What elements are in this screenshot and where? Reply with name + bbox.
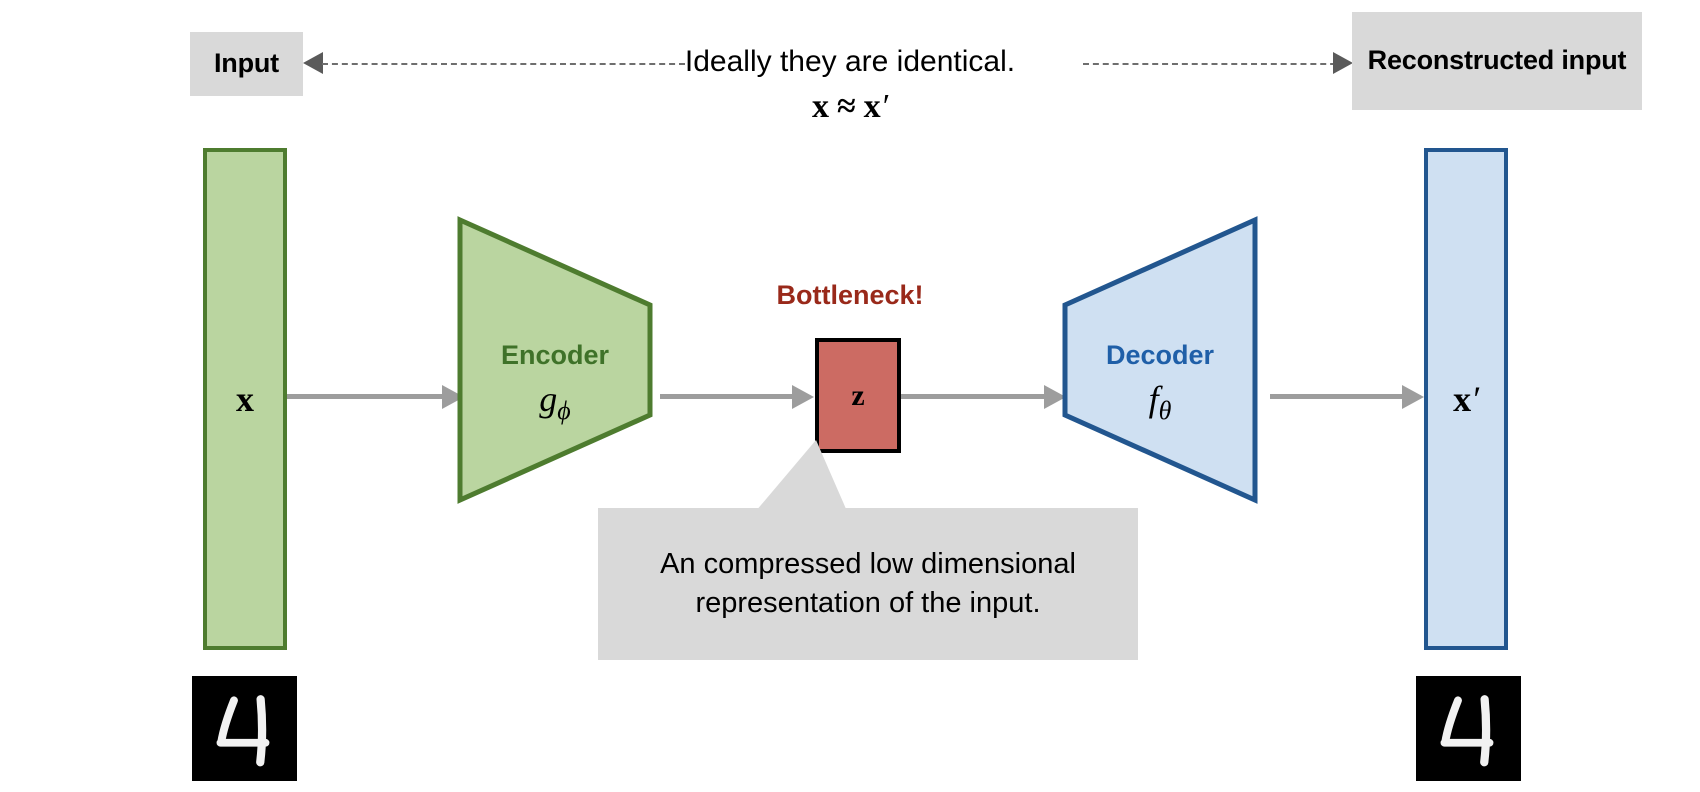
- bottleneck-box: z: [815, 338, 901, 453]
- arrow-decoder-to-output-head: [1402, 385, 1424, 409]
- bottleneck-heading: Bottleneck!: [720, 280, 980, 311]
- diagram-canvas: Input Ideally they are identical. x≈x′ R…: [0, 0, 1700, 792]
- input-vector-bar: x: [203, 148, 287, 650]
- approx-equation: x≈x′: [620, 88, 1080, 126]
- arrow-bottleneck-to-decoder-line: [901, 394, 1044, 399]
- dashed-arrow-head-left: [303, 52, 323, 74]
- bottleneck-callout-text: An compressed low dimensional representa…: [608, 545, 1128, 623]
- callout-line-2: representation of the input.: [608, 584, 1128, 623]
- output-vector-bar: x′: [1424, 148, 1508, 650]
- equation-rhs: x: [864, 88, 881, 125]
- input-label-box: Input: [190, 32, 303, 96]
- input-vector-symbol: x: [236, 378, 254, 420]
- output-vector-symbol-prime: ′: [1471, 378, 1479, 420]
- reconstructed-input-label-box: Reconstructed input: [1352, 12, 1642, 110]
- dashed-line-right: [1083, 63, 1346, 65]
- callout-line-1: An compressed low dimensional: [608, 545, 1128, 584]
- equation-operator: ≈: [829, 88, 864, 125]
- bottleneck-symbol: z: [851, 379, 864, 413]
- output-vector-symbol: x: [1453, 378, 1471, 420]
- arrow-input-to-encoder-line: [287, 394, 442, 399]
- equation-rhs-prime: ′: [881, 88, 888, 125]
- arrow-decoder-to-output-line: [1270, 394, 1402, 399]
- reconstructed-input-label-text: Reconstructed input: [1368, 45, 1627, 76]
- mnist-digit-left: [192, 676, 297, 781]
- arrow-encoder-to-bottleneck-head: [792, 385, 814, 409]
- input-label-text: Input: [214, 48, 279, 79]
- ideally-identical-caption: Ideally they are identical.: [620, 45, 1080, 79]
- mnist-digit-right: [1416, 676, 1521, 781]
- equation-lhs: x: [812, 88, 829, 125]
- dashed-arrow-head-right: [1333, 52, 1353, 74]
- arrow-encoder-to-bottleneck-line: [660, 394, 792, 399]
